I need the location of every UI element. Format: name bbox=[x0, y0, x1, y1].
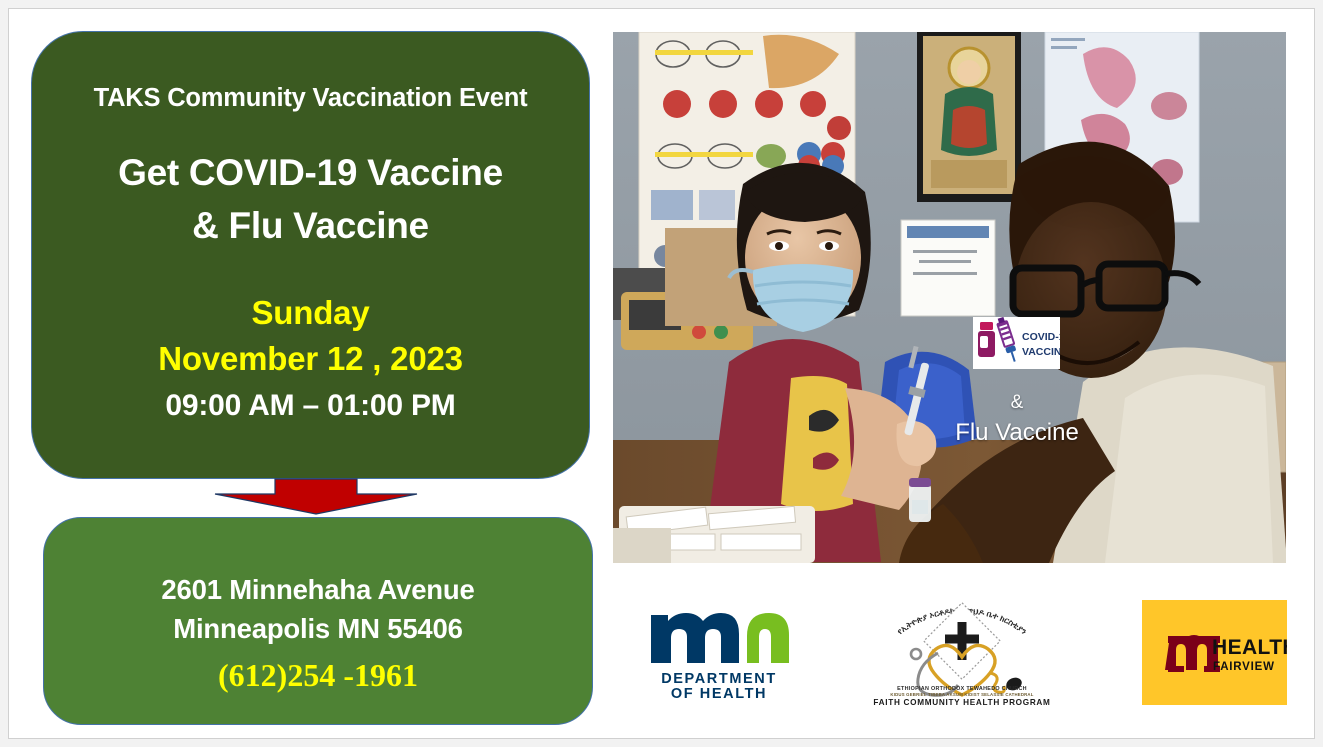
address-text-block: 2601 Minnehaha Avenue Minneapolis MN 554… bbox=[44, 570, 592, 694]
mdh-line-2: OF HEALTH bbox=[671, 686, 767, 701]
event-title: TAKS Community Vaccination Event bbox=[32, 84, 589, 113]
event-time: 09:00 AM – 01:00 PM bbox=[32, 389, 589, 423]
event-info-text-block: TAKS Community Vaccination Event Get COV… bbox=[32, 32, 589, 423]
flyer-canvas: TAKS Community Vaccination Event Get COV… bbox=[0, 0, 1323, 747]
eotc-title: FAITH COMMUNITY HEALTH PROGRAM bbox=[873, 698, 1050, 707]
badge-line-2-text: VACCINE bbox=[1022, 346, 1060, 358]
headline-line-2: & Flu Vaccine bbox=[32, 200, 589, 253]
ethiopian-orthodox-faith-community-logo: የኢትዮጵያ ኦርቶዶክስ ተዋህዶ ቤተ ክርስቲያን ETHIOPIAN O… bbox=[864, 591, 1060, 707]
mhf-fairview-text: FAIRVIEW bbox=[1213, 661, 1275, 673]
event-info-card: TAKS Community Vaccination Event Get COV… bbox=[31, 31, 590, 479]
overlay-ampersand: & bbox=[973, 392, 1061, 414]
badge-line-1-text: COVID-19 bbox=[1022, 331, 1060, 343]
mhf-health-text: HEALTH bbox=[1212, 636, 1287, 659]
address-line-2: Minneapolis MN 55406 bbox=[44, 609, 592, 648]
event-headline: Get COVID-19 Vaccine & Flu Vaccine bbox=[32, 147, 589, 252]
mn-department-of-health-logo: DEPARTMENT OF HEALTH bbox=[645, 597, 793, 701]
mdh-line-1: DEPARTMENT bbox=[661, 671, 777, 687]
flyer-page: TAKS Community Vaccination Event Get COV… bbox=[8, 8, 1315, 739]
event-date: November 12 , 2023 bbox=[32, 340, 589, 378]
headline-line-1: Get COVID-19 Vaccine bbox=[32, 147, 589, 200]
address-line-1: 2601 Minnehaha Avenue bbox=[44, 570, 592, 609]
phone-number: (612)254 -1961 bbox=[44, 657, 592, 694]
down-arrow-icon bbox=[214, 478, 418, 515]
address-card: 2601 Minnehaha Avenue Minneapolis MN 554… bbox=[43, 517, 593, 725]
event-day: Sunday bbox=[32, 294, 589, 332]
eotc-subtitle-2: KIDUS GEBRIEL TIBEBA AKSUM KIDIST SELASS… bbox=[890, 692, 1033, 697]
overlay-flu-vaccine-label: Flu Vaccine bbox=[914, 419, 1120, 447]
covid-vaccine-badge: COVID-19 VACCINE bbox=[973, 317, 1060, 369]
m-health-fairview-logo: HEALTH FAIRVIEW bbox=[1142, 600, 1287, 705]
vaccination-photo: ANG MASK bbox=[613, 32, 1286, 563]
